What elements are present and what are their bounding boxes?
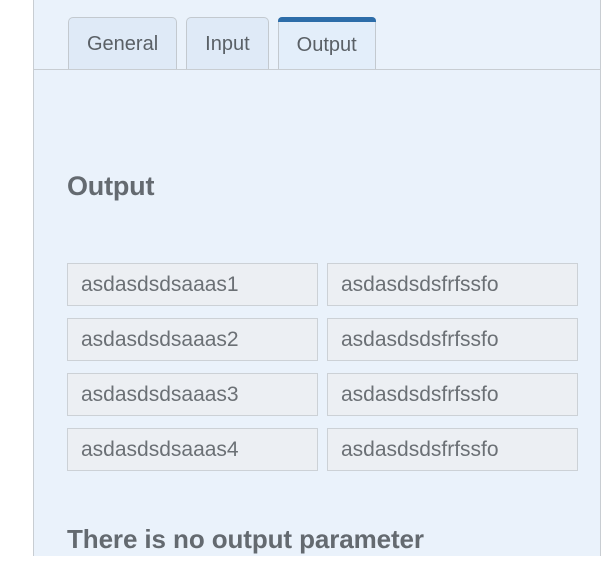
parameter-name-input-3[interactable] [67,373,318,416]
tab-list: General Input Output [68,17,376,69]
tab-general[interactable]: General [68,17,177,69]
tabbed-panel: General Input Output Output [33,0,601,556]
parameter-value-input-4[interactable] [327,428,578,471]
parameter-name-input-1[interactable] [67,263,318,306]
no-output-parameter-message: There is no output parameter [67,524,424,555]
tab-bar: General Input Output [34,0,600,70]
page-background: General Input Output Output [0,0,604,570]
parameter-value-input-1[interactable] [327,263,578,306]
parameter-value-input-2[interactable] [327,318,578,361]
parameter-row [67,428,577,471]
parameter-name-input-2[interactable] [67,318,318,361]
tab-panel-output: Output There [34,70,600,555]
parameter-value-input-3[interactable] [327,373,578,416]
page-title: Output [67,171,154,202]
output-parameter-grid [67,263,577,471]
parameter-name-input-4[interactable] [67,428,318,471]
tab-general-label: General [87,34,158,54]
parameter-row [67,318,577,361]
tab-output[interactable]: Output [278,17,376,69]
tab-input[interactable]: Input [186,17,268,69]
parameter-row [67,263,577,306]
parameter-row [67,373,577,416]
tab-input-label: Input [205,34,249,54]
tab-output-label: Output [297,35,357,55]
